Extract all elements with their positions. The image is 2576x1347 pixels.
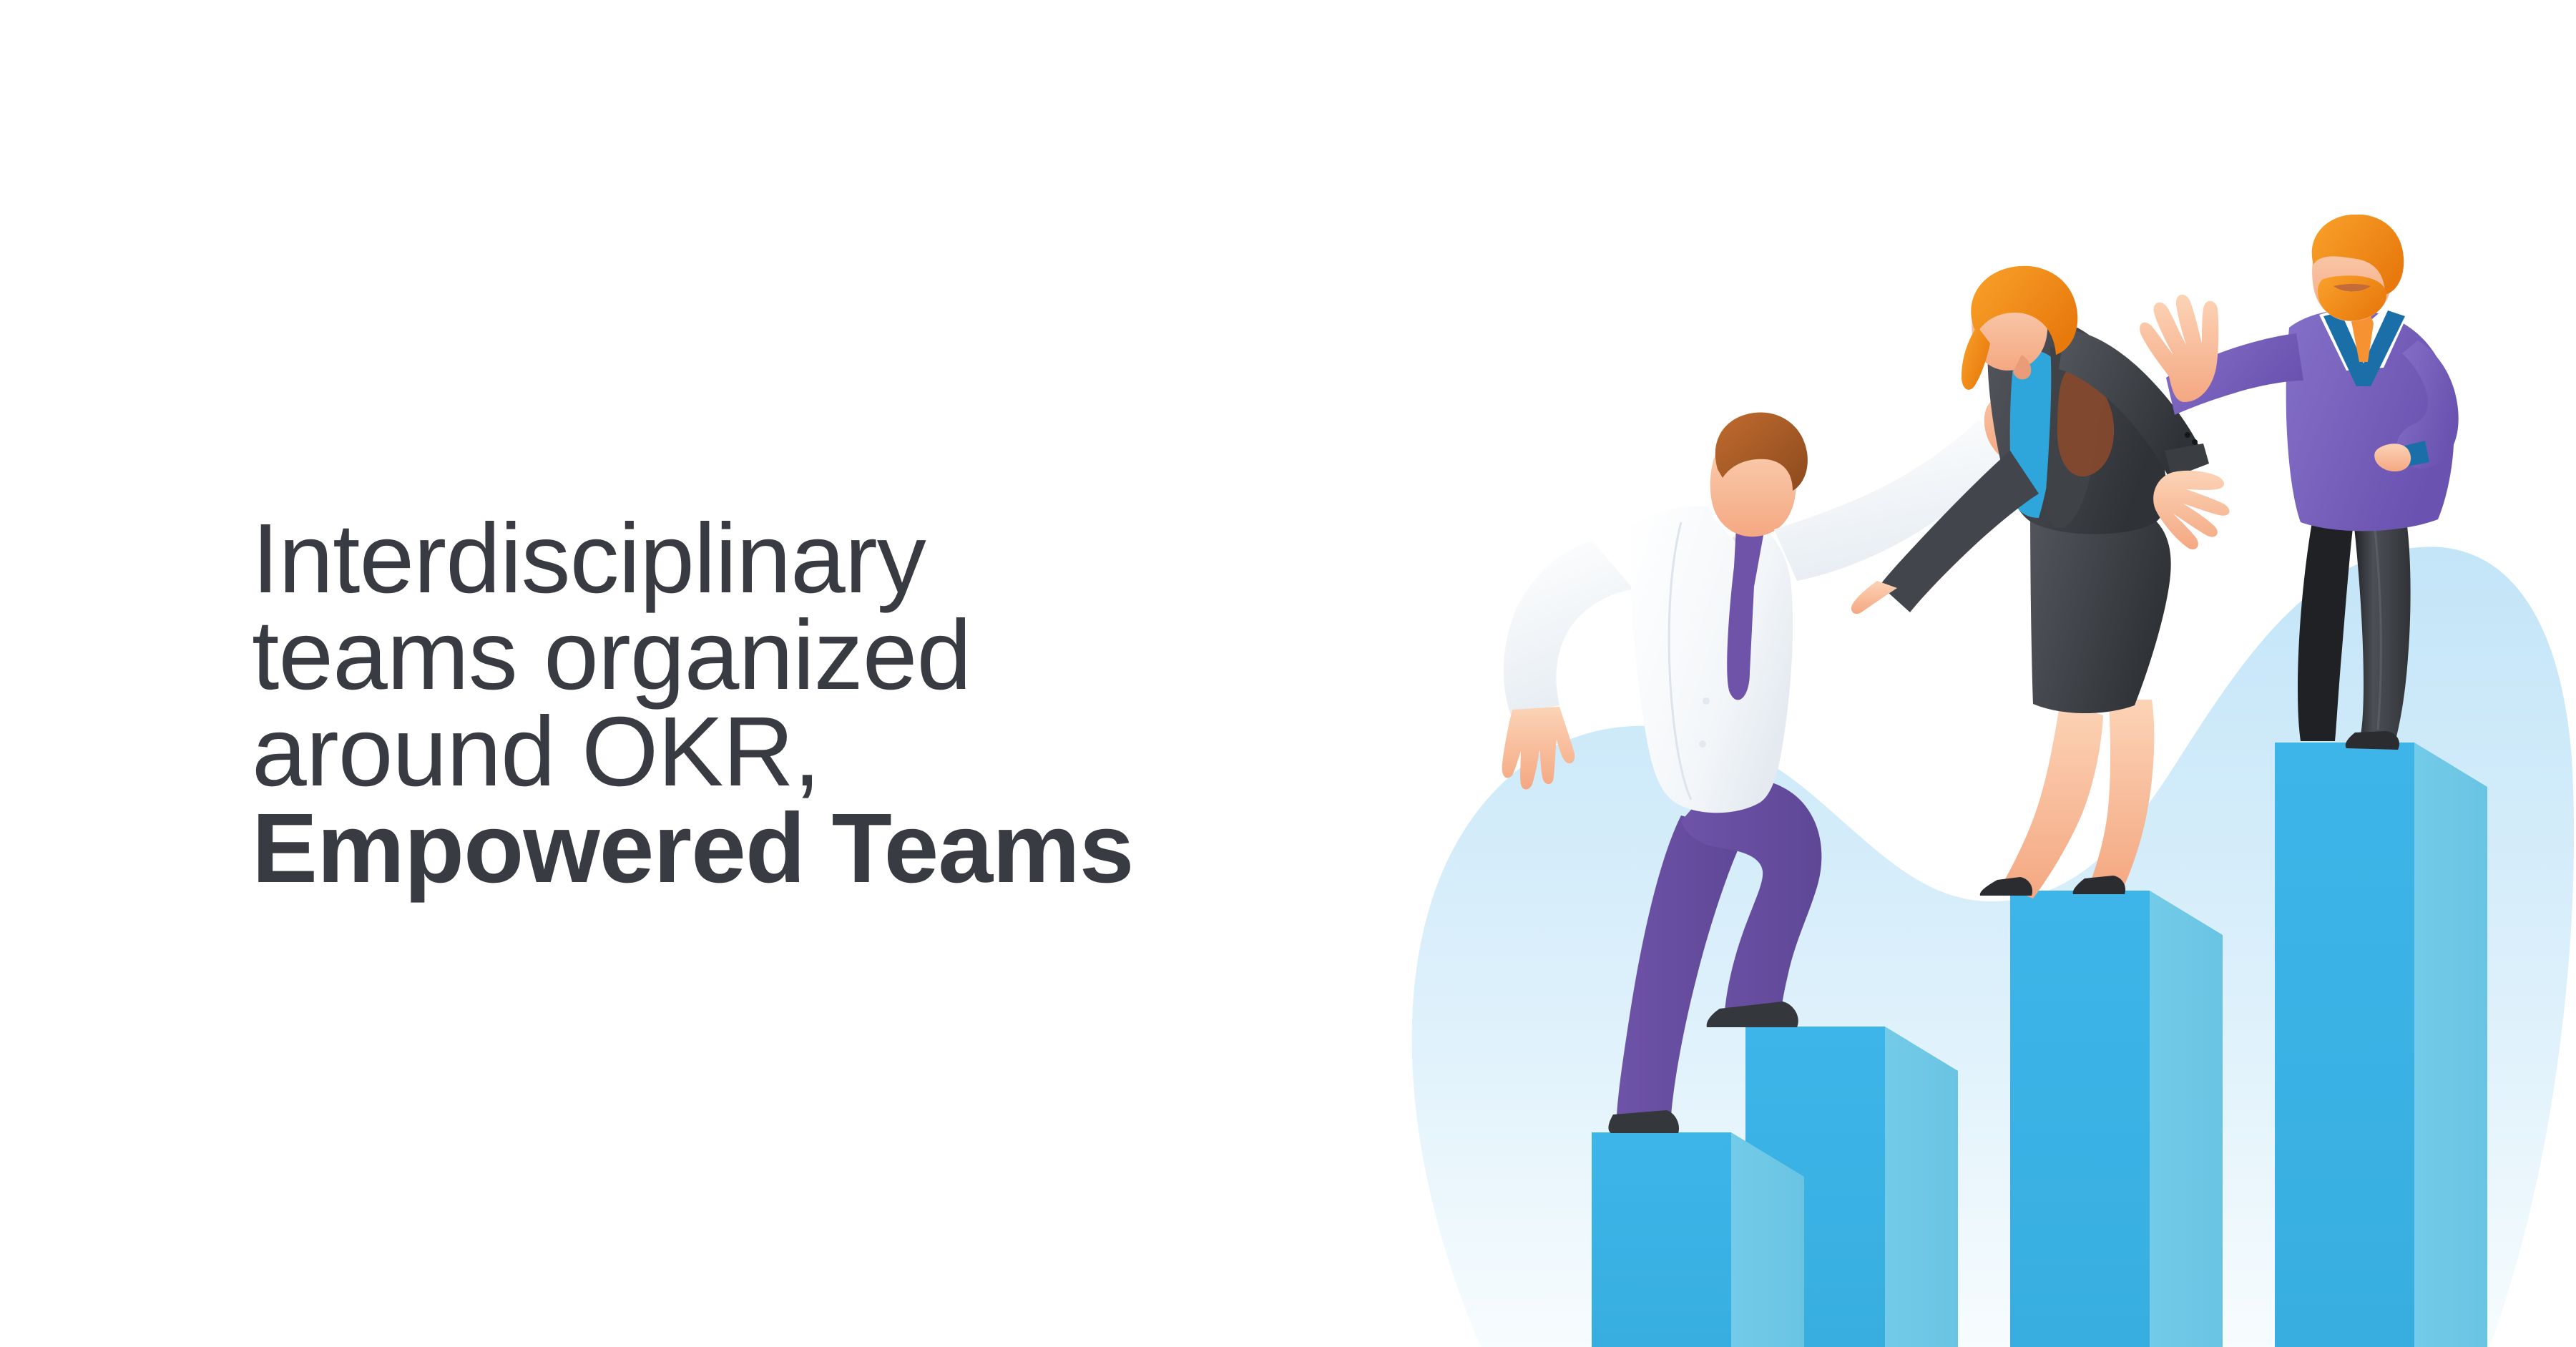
top-shoe — [2346, 731, 2399, 750]
headline-line-4-emphasis: Empowered Teams — [252, 800, 1468, 897]
woman-cuff-button — [2192, 439, 2198, 445]
torso-shirt — [1630, 506, 1793, 813]
illustration-svg — [1345, 215, 2576, 1347]
headline-line-2: teams organized — [252, 607, 1468, 704]
woman-cuff-button — [2185, 432, 2190, 438]
bar-3 — [2010, 891, 2223, 1347]
woman-back-hand — [1851, 581, 1897, 614]
page-title: Interdisciplinary teams organized around… — [252, 511, 1468, 897]
woman-back-shoe — [1980, 877, 2032, 896]
hero-banner: Interdisciplinary teams organized around… — [0, 0, 2576, 1347]
bar-1 — [1592, 1132, 1804, 1347]
bar-4 — [2275, 743, 2487, 1347]
back-arm-sleeve — [1504, 540, 1634, 715]
headline-line-1: Interdisciplinary — [252, 511, 1468, 607]
headline-line-3: around OKR, — [252, 704, 1468, 800]
team-climbing-chart-illustration — [1345, 215, 2576, 1347]
shirt-button — [1703, 697, 1710, 705]
shirt-button — [1699, 740, 1706, 748]
